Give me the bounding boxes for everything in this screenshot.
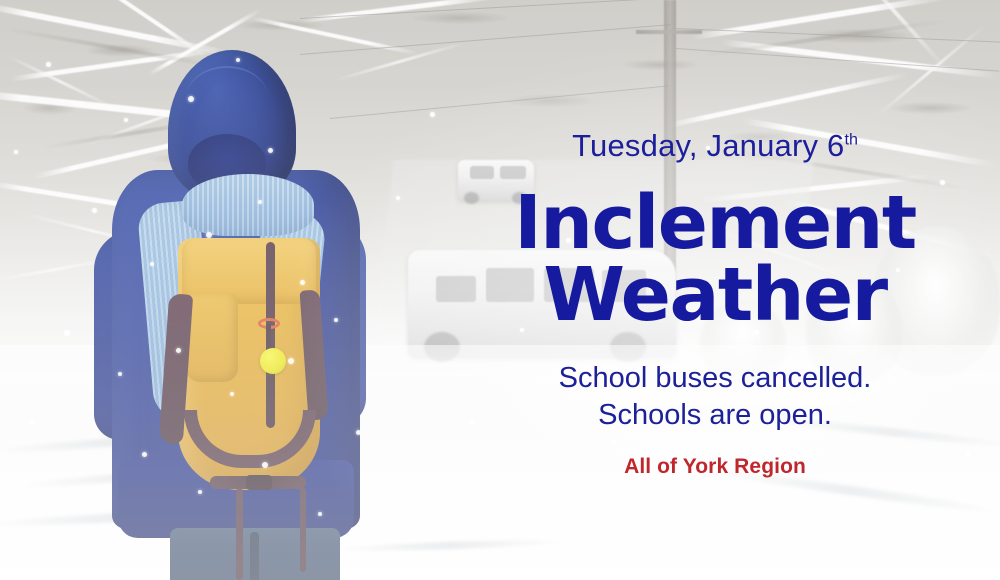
- backpack-side-pocket: [186, 294, 238, 382]
- backpack-hanging-strap: [300, 488, 306, 572]
- winter-street-photo: [0, 0, 1000, 580]
- scarf-neck-wrap: [182, 174, 314, 236]
- suv-window: [544, 268, 594, 302]
- car-wheel: [512, 192, 527, 204]
- backpack-hanging-strap: [236, 488, 243, 580]
- jeans-leg-gap: [250, 532, 259, 580]
- suv-window: [436, 276, 476, 302]
- suv-window: [486, 268, 534, 302]
- inclement-weather-banner: Tuesday, January 6th Inclement Weather S…: [0, 0, 1000, 580]
- hood-seam: [186, 66, 268, 130]
- child-walking-in-snow: [60, 42, 390, 580]
- car-wheel: [464, 192, 479, 204]
- backpack-belt-buckle: [246, 475, 272, 490]
- car-window: [470, 166, 494, 179]
- knit-texture: [182, 174, 314, 236]
- utility-crossarm: [636, 30, 702, 34]
- suv-window: [602, 270, 646, 302]
- car-window: [500, 166, 526, 179]
- reflector-tag-icon: [260, 348, 286, 374]
